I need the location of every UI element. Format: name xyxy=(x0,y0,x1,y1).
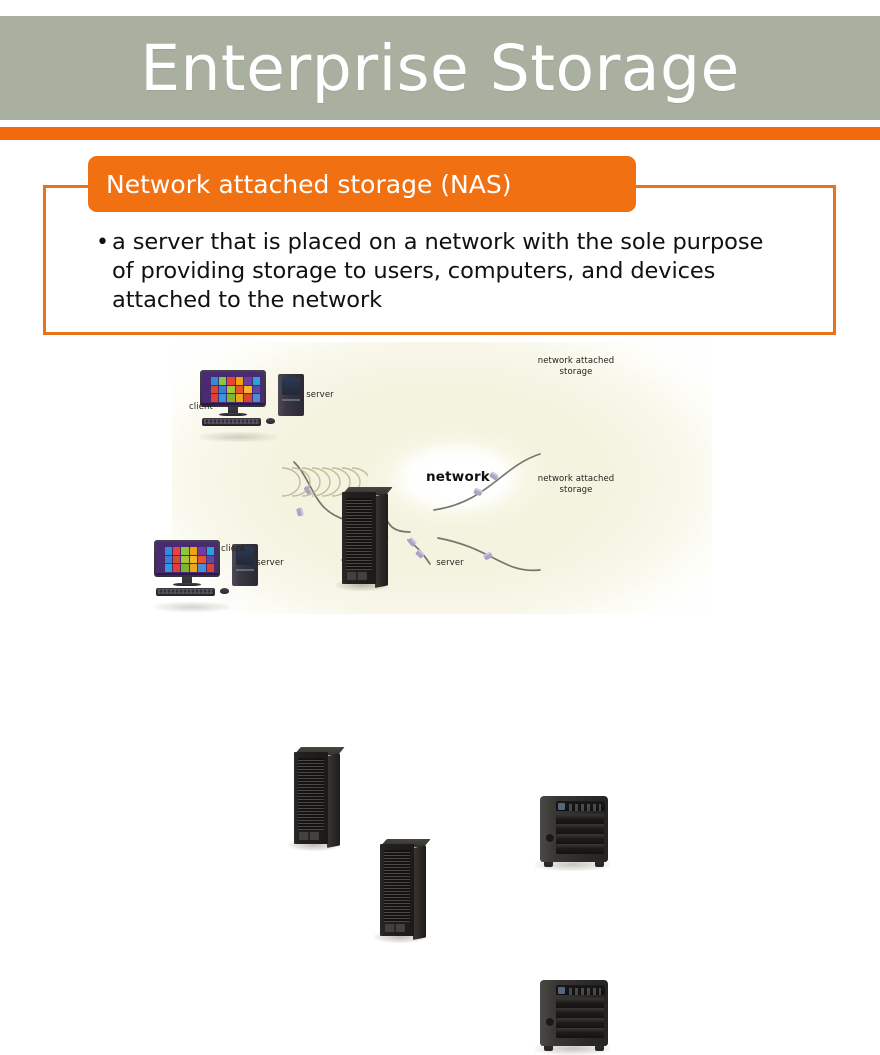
network-center-label: network xyxy=(404,469,512,485)
server-rack-bottom-right xyxy=(380,844,426,936)
accent-rule xyxy=(0,127,880,140)
tile xyxy=(236,386,243,394)
server-label-top: server xyxy=(300,390,340,401)
tile xyxy=(207,556,214,564)
section-heading-badge: Network attached storage (NAS) xyxy=(88,156,636,212)
nas-foot xyxy=(595,1046,604,1051)
tile xyxy=(236,394,243,402)
tower-strip xyxy=(282,399,301,402)
rack-side xyxy=(413,845,426,940)
tile xyxy=(165,564,172,572)
server-label-bottom-left: server xyxy=(250,558,290,569)
nas-device-upper xyxy=(540,796,608,862)
client-label-bottom: client xyxy=(210,544,256,555)
tile xyxy=(181,547,188,555)
rack-vent xyxy=(347,572,367,580)
rack-face xyxy=(294,752,328,844)
tile xyxy=(181,556,188,564)
tile xyxy=(173,547,180,555)
monitor-base xyxy=(173,583,201,586)
nas-label-lower: network attached storage xyxy=(534,474,618,495)
nas-power-button xyxy=(545,1017,555,1027)
mouse xyxy=(266,418,276,424)
tile xyxy=(253,394,260,402)
tile xyxy=(244,377,251,385)
windows-tiles xyxy=(165,547,214,572)
tower-strip xyxy=(236,569,255,572)
network-diagram: network xyxy=(172,342,712,614)
nas-foot xyxy=(544,862,553,867)
slide: Enterprise Storage Network attached stor… xyxy=(0,0,880,660)
bullet-list: • a server that is placed on a network w… xyxy=(96,228,776,315)
nas-drive-bay xyxy=(556,824,604,834)
rack-grill xyxy=(298,758,325,830)
rack-face xyxy=(342,492,376,584)
rack-grill xyxy=(346,498,373,570)
device-shadow xyxy=(154,602,230,612)
tile xyxy=(244,394,251,402)
nas-drive-bay xyxy=(556,1028,604,1038)
tile xyxy=(198,564,205,572)
monitor-base xyxy=(219,413,247,416)
nas-drive-bay xyxy=(556,834,604,844)
tile xyxy=(190,547,197,555)
rack-grill xyxy=(384,850,411,922)
nas-drive-bay xyxy=(556,1018,604,1028)
keyboard xyxy=(202,418,261,426)
nas-body xyxy=(540,796,608,862)
tile xyxy=(253,386,260,394)
bullet-marker: • xyxy=(96,228,112,257)
tile xyxy=(173,556,180,564)
nas-drive-bay xyxy=(556,998,604,1008)
keyboard-keys xyxy=(204,419,259,424)
tile xyxy=(219,386,226,394)
tile xyxy=(211,386,218,394)
server-label-bottom-right: server xyxy=(430,558,470,569)
nas-body xyxy=(540,980,608,1046)
tile xyxy=(227,386,234,394)
tile xyxy=(227,377,234,385)
tile xyxy=(244,386,251,394)
nas-foot xyxy=(544,1046,553,1051)
nas-bezel-text xyxy=(569,804,602,811)
rack-vent xyxy=(299,832,319,840)
list-item: • a server that is placed on a network w… xyxy=(96,228,776,315)
nas-bezel-text xyxy=(569,988,602,995)
nas-label-upper: network attached storage xyxy=(534,356,618,377)
section-heading-label: Network attached storage (NAS) xyxy=(88,170,511,199)
keyboard xyxy=(156,588,215,596)
monitor-screen xyxy=(202,372,264,405)
bullet-text: a server that is placed on a network wit… xyxy=(112,228,776,315)
tile xyxy=(165,556,172,564)
nas-drive-bay xyxy=(556,844,604,854)
device-shadow xyxy=(200,432,276,442)
rack-vent xyxy=(385,924,405,932)
slide-title-band: Enterprise Storage xyxy=(0,16,880,120)
tile xyxy=(165,547,172,555)
tile xyxy=(219,377,226,385)
rack-face xyxy=(380,844,414,936)
keyboard-keys xyxy=(158,589,213,594)
client-label-top: client xyxy=(178,402,224,413)
tile xyxy=(227,394,234,402)
server-rack-top xyxy=(342,492,388,584)
tower-panel xyxy=(282,377,301,395)
page-title: Enterprise Storage xyxy=(140,37,740,100)
mouse xyxy=(220,588,230,594)
taskbar xyxy=(156,573,218,575)
tile xyxy=(173,564,180,572)
server-rack-bottom-left xyxy=(294,752,340,844)
tile xyxy=(236,377,243,385)
tile xyxy=(207,564,214,572)
nas-status-led xyxy=(558,803,565,810)
nas-power-button xyxy=(545,833,555,843)
tile xyxy=(253,377,260,385)
monitor-screen xyxy=(156,542,218,575)
windows-tiles xyxy=(211,377,260,402)
rack-side xyxy=(327,753,340,848)
nas-drive-bay xyxy=(556,814,604,824)
tile xyxy=(190,564,197,572)
nas-status-led xyxy=(558,987,565,994)
tile xyxy=(190,556,197,564)
nas-foot xyxy=(595,862,604,867)
rack-side xyxy=(375,493,388,588)
tile xyxy=(198,556,205,564)
tile xyxy=(211,394,218,402)
tile xyxy=(181,564,188,572)
nas-device-lower xyxy=(540,980,608,1046)
nas-drive-bay xyxy=(556,1008,604,1018)
tile xyxy=(198,547,205,555)
tile xyxy=(219,394,226,402)
tile xyxy=(211,377,218,385)
